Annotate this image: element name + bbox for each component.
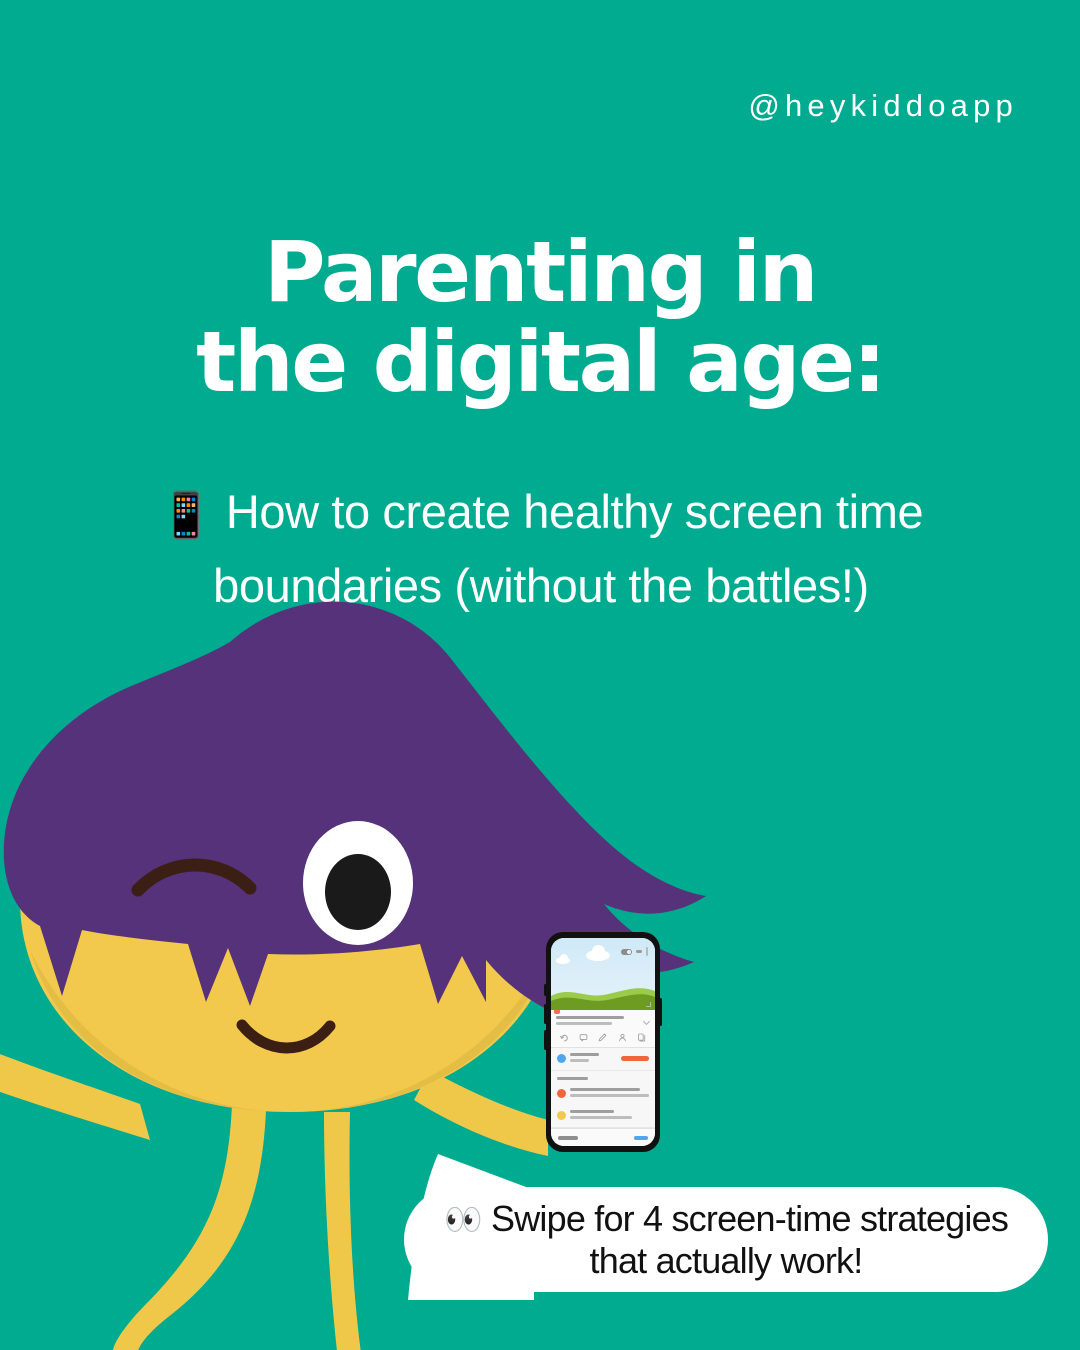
phone-volume-up-button[interactable] [544,1004,547,1024]
text-placeholder-bar [556,1022,612,1025]
list-item[interactable] [551,1105,655,1128]
account-handle: @heykiddoapp [748,88,1018,124]
title-line-2: the digital age: [0,318,1080,408]
text-placeholder-bar [557,1077,588,1080]
list-item[interactable] [551,1048,655,1071]
action-toolbar[interactable] [551,1028,655,1048]
swipe-callout-text: 👀 Swipe for 4 screen-time strategies tha… [404,1198,1048,1282]
undo-icon[interactable] [560,1033,569,1042]
phone-power-button[interactable] [659,998,662,1026]
text-placeholder-bar [570,1059,589,1062]
hero-landscape-image [551,938,655,1010]
avatar [557,1054,566,1063]
primary-action-button[interactable] [621,1056,649,1061]
row-text [570,1053,617,1065]
status-dot [557,1111,566,1120]
person-icon[interactable] [618,1033,627,1042]
character-right-eye-open [303,821,413,945]
poster-canvas: @heykiddoapp Parenting in the digital ag… [0,0,1080,1350]
edit-icon[interactable] [598,1033,607,1042]
footer-label-bar [558,1136,578,1140]
phone-screen [551,938,655,1146]
status-indicator [554,1010,560,1014]
hero-controls[interactable] [621,947,648,956]
comment-icon[interactable] [579,1033,588,1042]
resize-handle-icon[interactable] [646,1002,651,1007]
mobile-phone-icon: 📱 [159,491,213,540]
text-placeholder-bar [570,1053,599,1056]
title-line-1: Parenting in [0,228,1080,318]
character-legs [112,1105,362,1350]
content-list [551,1048,655,1128]
footer-link-bar[interactable] [634,1136,648,1140]
swipe-line-1: Swipe for 4 screen-time [491,1198,851,1239]
phone-footer [551,1128,655,1146]
copy-icon[interactable] [637,1033,646,1042]
row-text [570,1088,649,1100]
phone-volume-down-button[interactable] [544,1030,547,1050]
text-placeholder-bar [570,1088,640,1091]
swipe-callout-bubble: 👀 Swipe for 4 screen-time strategies tha… [404,1187,1048,1292]
more-options-icon[interactable] [646,947,648,956]
dash-icon [636,950,642,953]
section-label [551,1071,655,1080]
page-title: Parenting in the digital age: [0,228,1080,408]
subtitle-line-1: How to create healthy screen time [226,485,923,538]
list-item[interactable] [551,1083,655,1105]
character-right-arm [414,1070,548,1156]
status-dot [557,1089,566,1098]
text-placeholder-bar [556,1016,624,1019]
toggle-icon[interactable] [621,949,632,955]
row-text [570,1110,649,1122]
hills-graphic [551,982,655,1010]
text-placeholder-bar [570,1116,632,1119]
eyes-icon: 👀 [444,1202,482,1237]
caption-block [551,1010,655,1028]
chevron-down-icon[interactable] [643,1018,650,1025]
text-placeholder-bar [570,1110,614,1113]
smartphone-mockup [546,932,660,1152]
phone-mute-button[interactable] [544,984,547,996]
cloud-icon [586,950,610,961]
text-placeholder-bar [570,1094,649,1097]
cloud-icon [556,957,570,964]
